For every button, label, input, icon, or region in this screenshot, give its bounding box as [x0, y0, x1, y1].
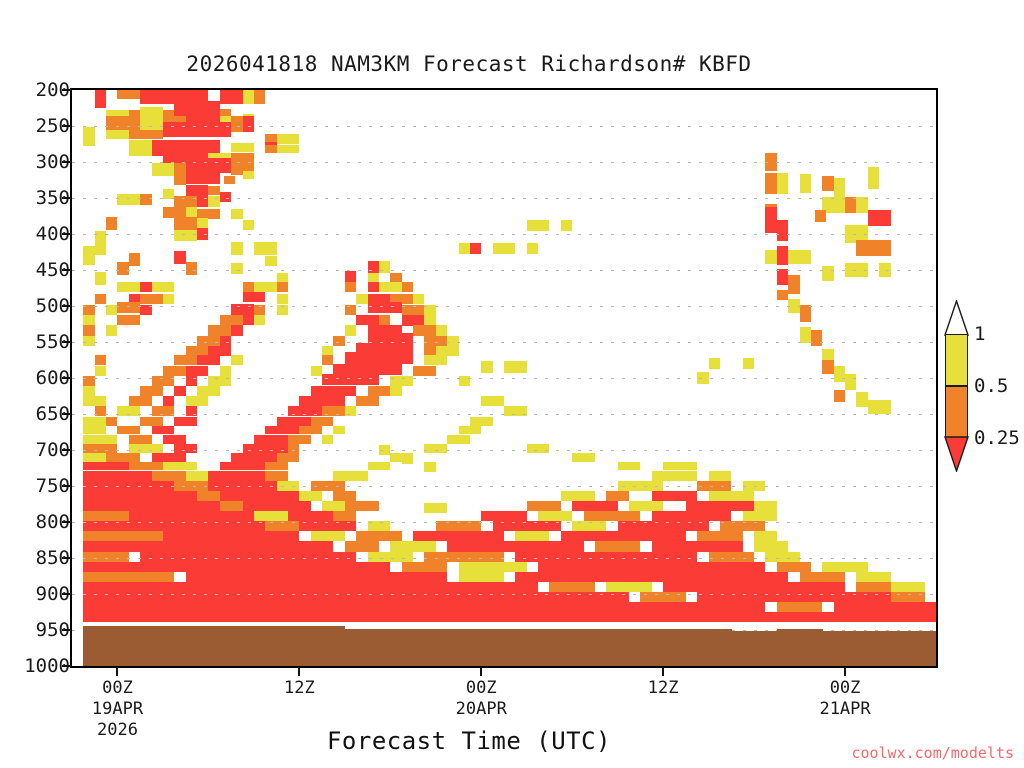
y-axis-tick-mark [62, 449, 71, 451]
y-axis-tick-label: 350 [8, 189, 70, 208]
y-axis-tick-mark [62, 665, 71, 667]
terrain-segment [686, 629, 732, 668]
colorbar-segment [945, 386, 968, 438]
y-axis-tick-mark [62, 413, 71, 415]
x-axis-tick-label: 00Z [830, 678, 861, 698]
x-axis-tick-mark [116, 668, 118, 676]
x-axis-tick-label: 00Z [102, 678, 133, 698]
y-axis-tick-mark [62, 161, 71, 163]
y-axis-tick-label: 400 [8, 225, 70, 244]
y-axis-tick-mark [62, 233, 71, 235]
y-axis-tick-label: 700 [8, 441, 70, 460]
x-axis-title: Forecast Time (UTC) [0, 727, 938, 755]
y-axis-tick-mark [62, 197, 71, 199]
y-axis-tick-mark [62, 485, 71, 487]
x-axis-tick-label: 21APR [819, 699, 870, 719]
y-axis-tick-label: 250 [8, 117, 70, 136]
x-axis-tick-mark [662, 668, 664, 676]
terrain-segment [777, 629, 823, 668]
y-axis-tick-label: 950 [8, 621, 70, 640]
y-axis-tick-label: 200 [8, 81, 70, 100]
colorbar-under-cap [944, 436, 969, 472]
terrain-segment [345, 629, 687, 668]
y-axis-tick-mark [62, 89, 71, 91]
terrain-segment [83, 626, 345, 668]
chart-stage: 2026041818 NAM3KM Forecast Richardson# K… [0, 0, 1024, 768]
terrain-band [72, 90, 936, 666]
y-axis: 2002503003504004505005506006507007508008… [0, 0, 70, 768]
y-axis-tick-label: 650 [8, 405, 70, 424]
x-axis-tick-mark [298, 668, 300, 676]
x-axis-tick-label: 12Z [648, 678, 679, 698]
x-axis-tick-label: 00Z [466, 678, 497, 698]
y-axis-tick-label: 450 [8, 261, 70, 280]
colorbar-tick-label: 0.5 [974, 377, 1008, 396]
y-axis-tick-label: 850 [8, 549, 70, 568]
plot-area [70, 88, 938, 668]
x-axis-tick-label: 19APR [92, 699, 143, 719]
y-axis-tick-label: 600 [8, 369, 70, 388]
x-axis-tick-mark [480, 668, 482, 676]
y-axis-tick-label: 900 [8, 585, 70, 604]
y-axis-tick-mark [62, 269, 71, 271]
y-axis-tick-mark [62, 125, 71, 127]
watermark: coolwx.com/modelts [851, 744, 1014, 762]
colorbar-body [945, 334, 968, 438]
y-axis-tick-label: 550 [8, 333, 70, 352]
colorbar-segment [945, 334, 968, 386]
y-axis-tick-mark [62, 377, 71, 379]
x-axis-tick-mark [844, 668, 846, 676]
y-axis-tick-mark [62, 593, 71, 595]
y-axis-tick-mark [62, 557, 71, 559]
y-axis-tick-mark [62, 341, 71, 343]
x-axis-tick-label: 12Z [284, 678, 315, 698]
y-axis-tick-label: 500 [8, 297, 70, 316]
y-axis-tick-mark [62, 305, 71, 307]
terrain-segment [731, 631, 777, 668]
y-axis-tick-label: 750 [8, 477, 70, 496]
y-axis-tick-mark [62, 629, 71, 631]
x-axis-tick-label: 20APR [456, 699, 507, 719]
colorbar-over-cap [944, 300, 969, 336]
colorbar-legend: 10.50.25 [938, 300, 1024, 500]
terrain-segment [822, 631, 936, 668]
y-axis-tick-label: 800 [8, 513, 70, 532]
y-axis-tick-mark [62, 521, 71, 523]
gridline [72, 666, 936, 667]
colorbar-tick-label: 1 [974, 325, 985, 344]
page-title: 2026041818 NAM3KM Forecast Richardson# K… [0, 52, 938, 76]
colorbar-tick-label: 0.25 [974, 429, 1020, 448]
y-axis-tick-label: 300 [8, 153, 70, 172]
